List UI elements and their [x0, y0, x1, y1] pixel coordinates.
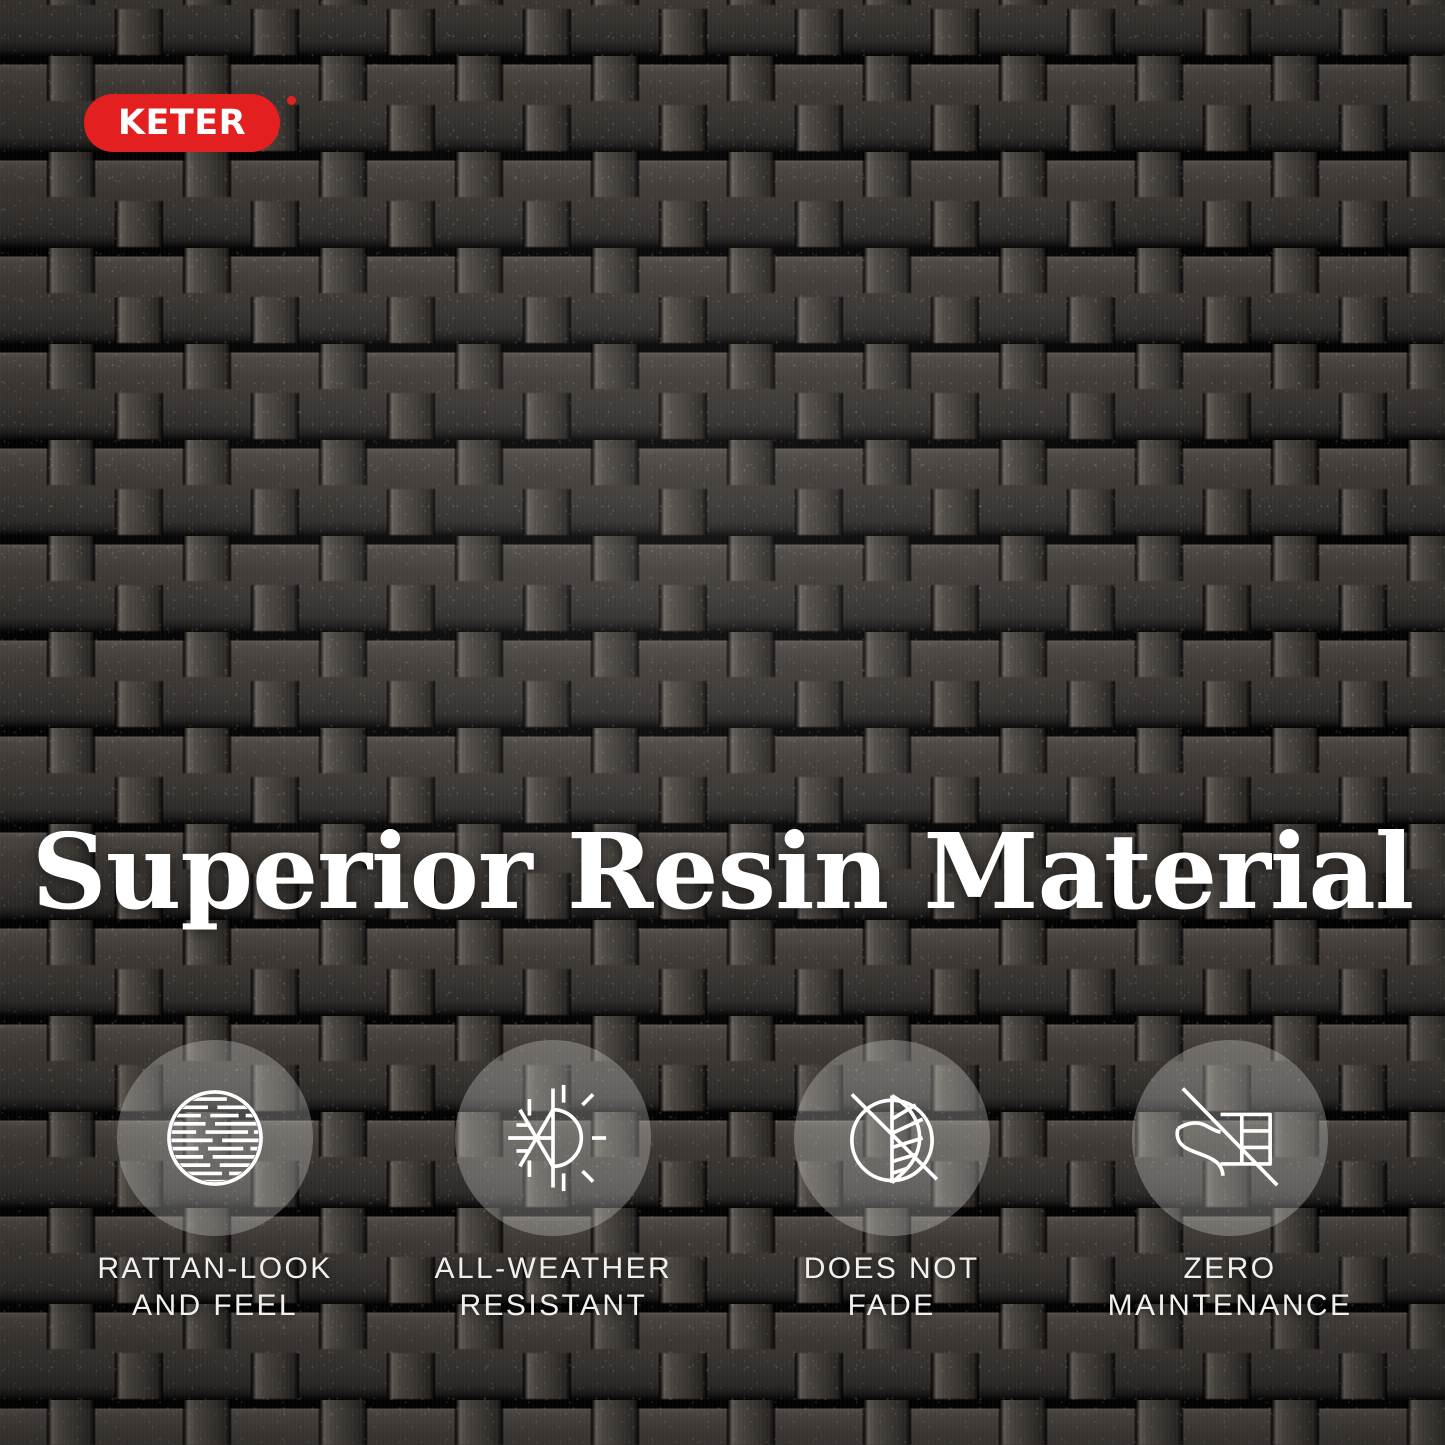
caption-line-1: DOES NOT — [804, 1250, 980, 1287]
feature-item-rattan-look: RATTAN-LOOK AND FEEL — [60, 1040, 370, 1324]
caption-line-1: ALL-WEATHER — [435, 1250, 673, 1287]
feature-badge-zero-maintenance — [1132, 1040, 1328, 1236]
feature-item-all-weather: ALL-WEATHER RESISTANT — [398, 1040, 708, 1324]
feature-caption-zero-maintenance: ZERO MAINTENANCE — [1108, 1250, 1353, 1324]
caption-line-2: AND FEEL — [97, 1287, 332, 1324]
feature-badge-does-not-fade — [794, 1040, 990, 1236]
caption-line-1: ZERO — [1108, 1250, 1353, 1287]
product-feature-poster: KETER Superior Resin Material — [0, 0, 1445, 1445]
feature-caption-all-weather: ALL-WEATHER RESISTANT — [435, 1250, 673, 1324]
keter-logo: KETER — [84, 94, 280, 152]
leaf-no-fade-icon — [833, 1079, 951, 1197]
feature-item-zero-maintenance: ZERO MAINTENANCE — [1075, 1040, 1385, 1324]
wood-grain-circle-icon — [156, 1079, 274, 1197]
caption-line-1: RATTAN-LOOK — [97, 1250, 332, 1287]
caption-line-2: MAINTENANCE — [1108, 1287, 1353, 1324]
snowflake-sun-icon — [494, 1079, 612, 1197]
registered-trademark-icon — [287, 96, 296, 105]
keter-logo-text: KETER — [118, 106, 246, 141]
feature-item-does-not-fade: DOES NOT FADE — [737, 1040, 1047, 1324]
caption-line-2: FADE — [804, 1287, 980, 1324]
feature-caption-rattan-look: RATTAN-LOOK AND FEEL — [97, 1250, 332, 1324]
feature-list: RATTAN-LOOK AND FEEL — [60, 1040, 1385, 1324]
feature-caption-does-not-fade: DOES NOT FADE — [804, 1250, 980, 1324]
page-title: Superior Resin Material — [0, 820, 1445, 924]
feature-badge-all-weather — [455, 1040, 651, 1236]
caption-line-2: RESISTANT — [435, 1287, 673, 1324]
feature-badge-rattan-look — [117, 1040, 313, 1236]
no-paintbrush-icon — [1171, 1079, 1289, 1197]
